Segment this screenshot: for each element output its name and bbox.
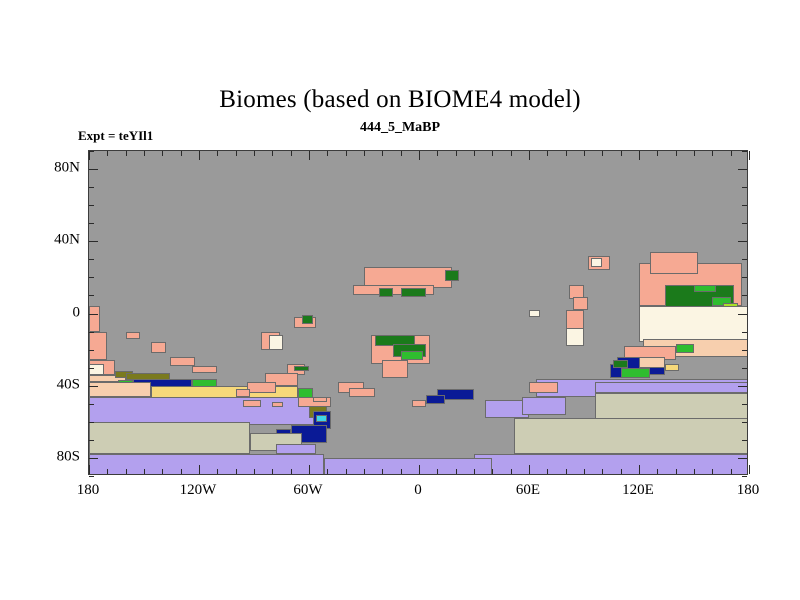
axis-tick — [89, 259, 94, 260]
biome-cell — [324, 458, 493, 474]
biome-cell — [639, 357, 665, 368]
biome-cell — [151, 342, 166, 353]
biome-cell — [595, 382, 747, 393]
axis-tick — [742, 223, 747, 224]
axis-tick — [419, 465, 420, 474]
axis-tick — [456, 151, 457, 156]
biome-cell — [529, 382, 558, 393]
biome-cell — [694, 285, 716, 292]
axis-tick — [144, 469, 145, 474]
axis-tick — [738, 169, 747, 170]
biome-cell — [650, 252, 698, 274]
axis-tick — [437, 469, 438, 474]
biome-cell — [621, 368, 650, 379]
axis-tick — [657, 469, 658, 474]
biome-cell — [294, 366, 309, 371]
axis-tick — [217, 469, 218, 474]
x-axis-tick-label: 180 — [77, 482, 100, 499]
axis-tick — [742, 277, 747, 278]
axis-tick — [126, 469, 127, 474]
x-axis-tick-label: 60E — [516, 482, 540, 499]
biome-cell — [89, 364, 104, 375]
biome-cell — [243, 400, 261, 407]
biome-cell — [316, 415, 327, 422]
axis-tick — [511, 469, 512, 474]
biome-cell-layer — [89, 151, 747, 474]
axis-tick — [749, 151, 750, 160]
axis-tick — [89, 465, 90, 474]
biome-cell — [89, 422, 250, 455]
axis-tick — [742, 350, 747, 351]
biome-cell — [276, 444, 316, 455]
axis-tick — [89, 151, 94, 152]
biome-cell — [591, 258, 602, 267]
axis-tick — [738, 386, 747, 387]
axis-tick — [547, 469, 548, 474]
biome-cell — [382, 360, 408, 378]
biome-cell — [573, 297, 588, 310]
experiment-label: Expt = teYIl1 — [78, 128, 153, 144]
axis-tick — [89, 205, 94, 206]
axis-tick — [144, 151, 145, 156]
axis-tick — [712, 151, 713, 156]
x-axis-tick-label: 120W — [180, 482, 217, 499]
axis-tick — [89, 314, 98, 315]
axis-tick — [162, 151, 163, 156]
axis-tick — [199, 151, 200, 160]
axis-tick — [217, 151, 218, 156]
axis-tick — [731, 151, 732, 156]
axis-tick — [89, 169, 98, 170]
axis-tick — [566, 469, 567, 474]
biome-cell — [379, 288, 394, 297]
biome-cell — [89, 454, 324, 474]
axis-tick — [742, 295, 747, 296]
map-plot-area — [88, 150, 748, 475]
axis-tick — [731, 469, 732, 474]
axis-tick — [199, 465, 200, 474]
x-axis-tick-label: 120E — [622, 482, 654, 499]
axis-tick — [382, 469, 383, 474]
axis-tick — [419, 151, 420, 160]
axis-tick — [89, 458, 98, 459]
axis-tick — [742, 205, 747, 206]
axis-tick — [181, 151, 182, 156]
biome-cell — [445, 270, 460, 281]
y-axis-tick-label: 40N — [54, 232, 80, 249]
axis-tick — [474, 151, 475, 156]
axis-tick — [126, 151, 127, 156]
axis-tick — [738, 241, 747, 242]
axis-tick — [89, 422, 94, 423]
axis-tick — [401, 151, 402, 156]
axis-tick — [89, 350, 94, 351]
axis-tick — [742, 259, 747, 260]
axis-tick — [547, 151, 548, 156]
axis-tick — [89, 295, 94, 296]
axis-tick — [676, 151, 677, 156]
axis-tick — [89, 277, 94, 278]
axis-tick — [742, 332, 747, 333]
axis-tick — [346, 469, 347, 474]
axis-tick — [162, 469, 163, 474]
biome-cell — [401, 288, 427, 297]
axis-tick — [89, 440, 94, 441]
axis-tick — [364, 151, 365, 156]
biome-cell — [313, 397, 328, 402]
biome-cell — [514, 418, 747, 454]
axis-tick — [738, 314, 747, 315]
axis-tick — [742, 404, 747, 405]
axis-tick — [107, 151, 108, 156]
axis-tick — [742, 476, 747, 477]
axis-tick — [364, 469, 365, 474]
axis-tick — [474, 469, 475, 474]
axis-tick — [89, 404, 94, 405]
y-axis-tick-label: 0 — [73, 304, 81, 321]
figure-canvas: Biomes (based on BIOME4 model) 444_5_MaB… — [0, 0, 800, 600]
x-axis-tick-label: 0 — [414, 482, 422, 499]
biome-cell — [302, 315, 313, 324]
axis-tick — [89, 223, 94, 224]
axis-tick — [291, 469, 292, 474]
axis-tick — [529, 151, 530, 160]
axis-tick — [456, 469, 457, 474]
axis-tick — [401, 469, 402, 474]
axis-tick — [327, 151, 328, 156]
biome-cell — [639, 306, 747, 342]
biome-cell — [401, 351, 423, 360]
axis-tick — [602, 469, 603, 474]
biome-cell — [676, 344, 694, 353]
axis-tick — [584, 151, 585, 156]
biome-cell — [665, 364, 680, 371]
biome-cell — [474, 454, 747, 474]
axis-tick — [89, 332, 94, 333]
axis-tick — [529, 465, 530, 474]
biome-cell — [522, 397, 566, 415]
axis-tick — [749, 465, 750, 474]
axis-tick — [236, 151, 237, 156]
biome-cell — [89, 382, 151, 396]
axis-tick — [621, 469, 622, 474]
axis-tick — [712, 469, 713, 474]
axis-tick — [694, 151, 695, 156]
axis-tick — [584, 469, 585, 474]
biome-cell — [566, 328, 584, 346]
y-axis-tick-label: 80N — [54, 160, 80, 177]
axis-tick — [291, 151, 292, 156]
axis-tick — [742, 368, 747, 369]
axis-tick — [742, 151, 747, 152]
axis-tick — [309, 465, 310, 474]
axis-tick — [742, 422, 747, 423]
axis-tick — [511, 151, 512, 156]
axis-tick — [738, 458, 747, 459]
axis-tick — [639, 151, 640, 160]
biome-cell — [126, 332, 141, 339]
biome-cell — [89, 306, 100, 331]
biome-cell — [236, 389, 251, 396]
axis-tick — [254, 469, 255, 474]
axis-tick — [89, 386, 98, 387]
biome-cell — [272, 402, 283, 407]
biome-cell — [170, 357, 196, 366]
axis-tick — [639, 465, 640, 474]
axis-tick — [236, 469, 237, 474]
axis-tick — [272, 469, 273, 474]
axis-tick — [566, 151, 567, 156]
axis-tick — [327, 469, 328, 474]
biome-cell — [89, 332, 107, 361]
axis-tick — [657, 151, 658, 156]
axis-tick — [272, 151, 273, 156]
axis-tick — [602, 151, 603, 156]
biome-cell — [412, 400, 427, 407]
axis-tick — [89, 151, 90, 160]
biome-cell — [247, 382, 276, 393]
axis-tick — [309, 151, 310, 160]
axis-tick — [107, 469, 108, 474]
biome-cell — [426, 395, 444, 404]
axis-tick — [89, 241, 98, 242]
axis-tick — [181, 469, 182, 474]
chart-title: Biomes (based on BIOME4 model) — [0, 86, 800, 114]
axis-tick — [742, 187, 747, 188]
biome-cell — [192, 366, 218, 373]
axis-tick — [621, 151, 622, 156]
axis-tick — [254, 151, 255, 156]
axis-tick — [382, 151, 383, 156]
biome-cell — [349, 388, 375, 397]
axis-tick — [89, 368, 94, 369]
axis-tick — [89, 476, 94, 477]
axis-tick — [346, 151, 347, 156]
axis-tick — [694, 469, 695, 474]
axis-tick — [89, 187, 94, 188]
axis-tick — [492, 469, 493, 474]
biome-cell — [269, 335, 284, 349]
biome-cell — [529, 310, 540, 317]
axis-tick — [492, 151, 493, 156]
y-axis-tick-label: 80S — [57, 448, 80, 465]
axis-tick — [437, 151, 438, 156]
biome-cell — [613, 360, 628, 367]
axis-tick — [676, 469, 677, 474]
y-axis-tick-label: 40S — [57, 376, 80, 393]
x-axis-tick-label: 180 — [737, 482, 760, 499]
x-axis-tick-label: 60W — [293, 482, 322, 499]
axis-tick — [742, 440, 747, 441]
